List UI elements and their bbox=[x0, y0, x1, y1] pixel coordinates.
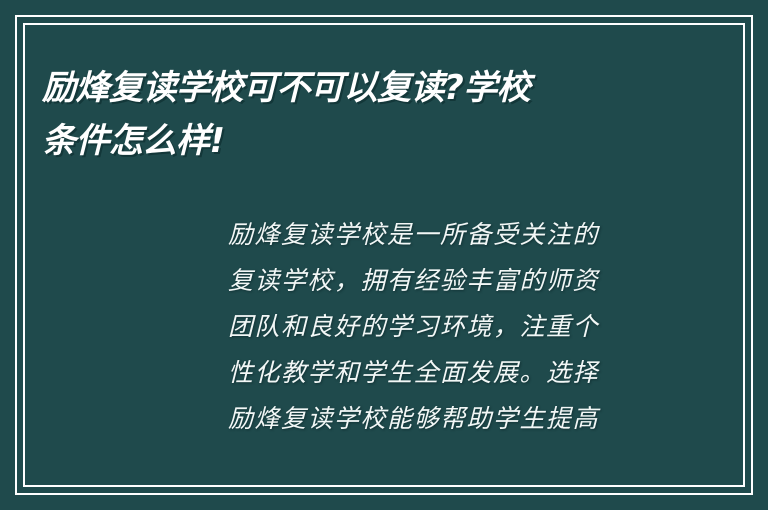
headline-line-1: 励烽复读学校可不可以复读?学校 bbox=[42, 62, 732, 115]
body-line-3: 团队和良好的学习环境，注重个 bbox=[228, 304, 648, 350]
body-line-5: 励烽复读学校能够帮助学生提高 bbox=[228, 396, 648, 442]
body-line-1: 励烽复读学校是一所备受关注的 bbox=[228, 212, 648, 258]
body-line-2: 复读学校，拥有经验丰富的师资 bbox=[228, 258, 648, 304]
body-line-4: 性化教学和学生全面发展。选择 bbox=[228, 350, 648, 396]
headline-block: 励烽复读学校可不可以复读?学校 条件怎么样! bbox=[42, 62, 732, 168]
poster-canvas: 励烽复读学校可不可以复读?学校 条件怎么样! 励烽复读学校是一所备受关注的 复读… bbox=[0, 0, 768, 510]
body-paragraph-block: 励烽复读学校是一所备受关注的 复读学校，拥有经验丰富的师资 团队和良好的学习环境… bbox=[228, 212, 648, 442]
headline-line-2: 条件怎么样! bbox=[42, 115, 732, 168]
